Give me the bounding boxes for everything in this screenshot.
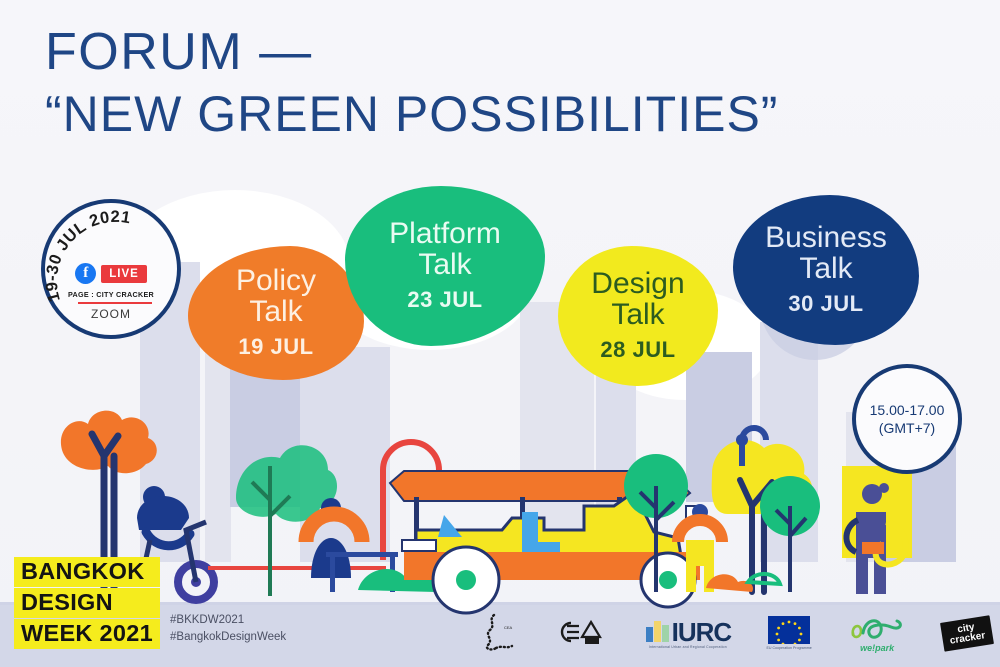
facebook-icon: f: [75, 263, 96, 284]
cea-logo-icon: [555, 615, 609, 651]
talk-date: 30 JUL: [788, 291, 863, 317]
live-label: LIVE: [101, 265, 147, 283]
hashtag-bangkokdesignweek: #BangkokDesignWeek: [170, 629, 286, 646]
event-badge-line3: WEEK 2021: [14, 619, 160, 649]
title-line-1: FORUM —: [45, 24, 778, 80]
iurc-wordmark: IURC: [672, 621, 732, 643]
wepark-logo: we!park: [847, 613, 907, 653]
talk-title: Business Talk: [765, 223, 887, 285]
talk-title-line2: Talk: [799, 252, 852, 285]
event-badge-line2: DESIGN: [14, 588, 160, 618]
wepark-wordmark: we!park: [860, 643, 894, 653]
iurc-building-icon: [645, 617, 671, 643]
talk-title: Design Talk: [591, 269, 684, 331]
european-union-logo: EU Cooperation Programme: [766, 616, 811, 650]
talk-title-line1: Design: [591, 267, 684, 300]
ring-seat: [306, 514, 362, 542]
eu-flag-icon: [768, 616, 810, 644]
talk-date: 28 JUL: [600, 337, 675, 363]
eu-caption: EU Cooperation Programme: [766, 646, 811, 650]
hashtag-bkkdw: #BKKDW2021: [170, 612, 286, 629]
time-badge-time: 15.00-17.00: [870, 402, 945, 418]
talk-title-line1: Platform: [389, 217, 501, 250]
live-row: f LIVE: [45, 263, 177, 284]
poster-canvas: FORUM — “NEW GREEN POSSIBILITIES” 19-30 …: [0, 0, 1000, 667]
title-line-2: “NEW GREEN POSSIBILITIES”: [45, 86, 778, 142]
footer-logos: CEA IURC International Urban and Regiona…: [480, 607, 992, 659]
city-cracker-logo: city cracker: [942, 619, 992, 648]
talk-title: Platform Talk: [389, 219, 501, 281]
hashtags: #BKKDW2021 #BangkokDesignWeek: [170, 612, 286, 647]
page-title: FORUM — “NEW GREEN POSSIBILITIES”: [45, 24, 778, 142]
time-badge-timezone: (GMT+7): [879, 420, 935, 436]
squiggle-logo-icon: CEA: [480, 612, 520, 654]
live-badge-platform: ZOOM: [45, 307, 177, 321]
squiggle-logo: CEA: [480, 612, 520, 654]
wepark-loop-icon: [847, 613, 907, 643]
svg-text:CEA: CEA: [504, 625, 513, 630]
talk-title-line1: Business: [765, 221, 887, 254]
talk-date: 19 JUL: [238, 334, 313, 360]
talk-date: 23 JUL: [407, 287, 482, 313]
talk-title: Policy Talk: [236, 266, 316, 328]
cea-logo: [555, 615, 609, 651]
talk-title-line2: Talk: [249, 295, 302, 328]
person-planting: [678, 504, 753, 592]
talk-title-line2: Talk: [418, 248, 471, 281]
live-badge-divider: [78, 302, 152, 304]
city-cracker-mark: city cracker: [940, 615, 994, 651]
iurc-logo: IURC International Urban and Regional Co…: [645, 617, 732, 649]
talk-title-line2: Talk: [611, 298, 664, 331]
time-badge: 15.00-17.00 (GMT+7): [852, 364, 962, 474]
live-badge: 19-30 JUL 2021 f LIVE PAGE : CITY CRACKE…: [41, 199, 181, 339]
rail-line: [208, 566, 386, 570]
iurc-caption: International Urban and Regional Coopera…: [649, 645, 727, 649]
talk-title-line1: Policy: [236, 264, 316, 297]
live-badge-page: PAGE : CITY CRACKER: [45, 290, 177, 299]
event-badge: BANGKOK DESIGN WEEK 2021: [14, 557, 160, 649]
iurc-mark: IURC: [645, 617, 732, 643]
event-badge-line1: BANGKOK: [14, 557, 160, 587]
